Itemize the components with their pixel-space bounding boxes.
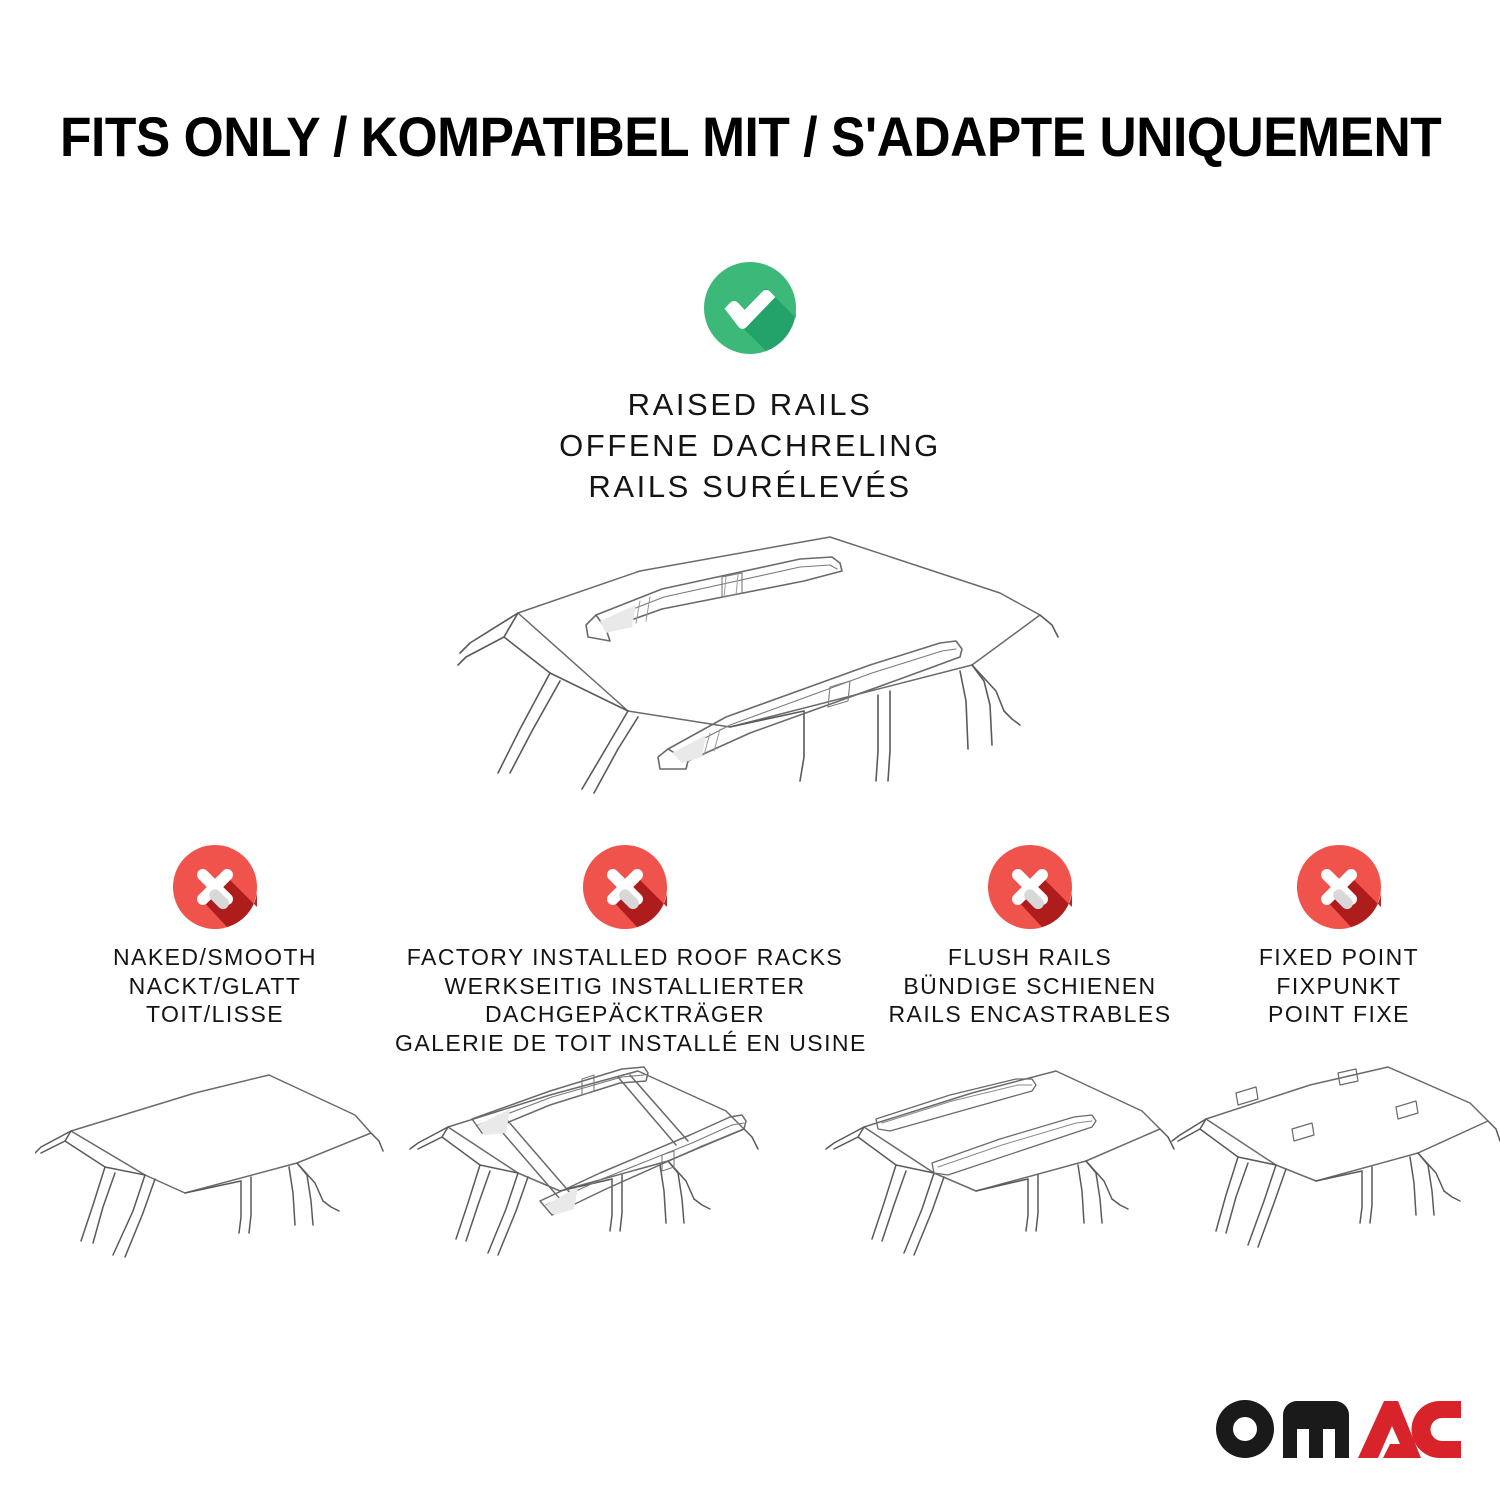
incompatible-item-flush-rails: FLUSH RAILS BÜNDIGE SCHIENEN RAILS ENCAS… (855, 845, 1205, 1029)
cross-circle-icon (988, 845, 1072, 929)
item-labels: FLUSH RAILS BÜNDIGE SCHIENEN RAILS ENCAS… (855, 943, 1205, 1029)
item-label-de2: DACHGEPÄCKTRÄGER (395, 1000, 855, 1029)
item-label-en: FACTORY INSTALLED ROOF RACKS (395, 943, 855, 972)
approved-labels: RAISED RAILS OFFENE DACHRELING RAILS SUR… (0, 384, 1500, 507)
item-label-de: WERKSEITIG INSTALLIERTER (395, 972, 855, 1001)
item-label-en: NAKED/SMOOTH (35, 943, 395, 972)
item-label-fr: POINT FIXE (1205, 1000, 1473, 1029)
cross-circle-icon (173, 845, 257, 929)
item-label-de: BÜNDIGE SCHIENEN (855, 972, 1205, 1001)
approved-label-de: OFFENE DACHRELING (0, 425, 1500, 466)
check-circle-icon (704, 262, 796, 354)
item-label-fr: RAILS ENCASTRABLES (855, 1000, 1205, 1029)
car-roof-with-raised-rails-diagram (400, 505, 1100, 835)
car-roof-fixed-point-diagram (1170, 1055, 1500, 1295)
item-labels: NAKED/SMOOTH NACKT/GLATT TOIT/LISSE (35, 943, 395, 1029)
cross-circle-icon (1297, 845, 1381, 929)
approved-label-en: RAISED RAILS (0, 384, 1500, 425)
item-label-fr: TOIT/LISSE (35, 1000, 395, 1029)
incompatible-item-naked-smooth: NAKED/SMOOTH NACKT/GLATT TOIT/LISSE (35, 845, 395, 1029)
item-label-en: FIXED POINT (1205, 943, 1473, 972)
item-labels: FIXED POINT FIXPUNKT POINT FIXE (1205, 943, 1473, 1029)
item-label-de: NACKT/GLATT (35, 972, 395, 1001)
car-roof-factory-roof-racks-diagram (400, 1055, 785, 1295)
item-label-fr: GALERIE DE TOIT INSTALLÉ EN USINE (395, 1029, 855, 1058)
item-label-de: FIXPUNKT (1205, 972, 1473, 1001)
approved-label-fr: RAILS SURÉLEVÉS (0, 466, 1500, 507)
car-roof-flush-rails-diagram (820, 1055, 1205, 1295)
car-roof-naked-smooth-diagram (35, 1055, 405, 1295)
omac-logo (1212, 1396, 1462, 1462)
incompatible-item-fixed-point: FIXED POINT FIXPUNKT POINT FIXE (1205, 845, 1473, 1029)
cross-circle-icon (583, 845, 667, 929)
approved-section: RAISED RAILS OFFENE DACHRELING RAILS SUR… (0, 262, 1500, 507)
incompatible-item-factory-roof-racks: FACTORY INSTALLED ROOF RACKS WERKSEITIG … (395, 845, 855, 1057)
page-title: FITS ONLY / KOMPATIBEL MIT / S'ADAPTE UN… (60, 104, 1440, 169)
item-label-en: FLUSH RAILS (855, 943, 1205, 972)
item-labels: FACTORY INSTALLED ROOF RACKS WERKSEITIG … (395, 943, 855, 1057)
